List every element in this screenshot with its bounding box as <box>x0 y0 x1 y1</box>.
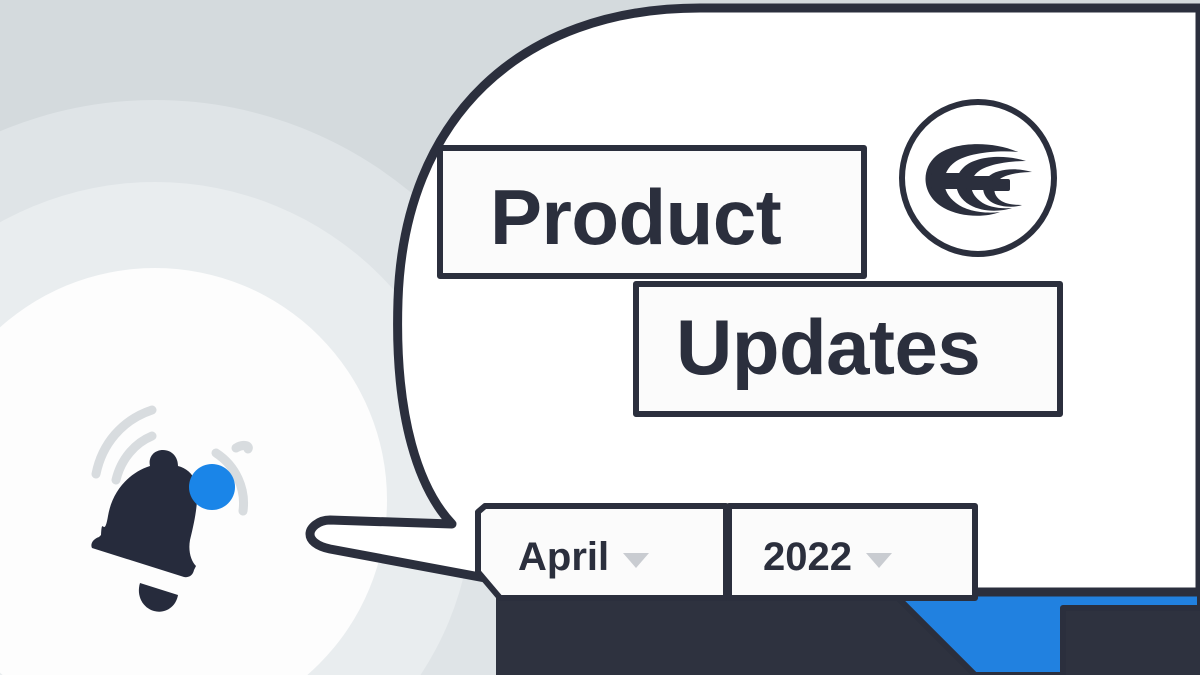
bell-icon-layer <box>0 0 1200 675</box>
notification-dot-icon <box>189 464 235 510</box>
notification-bell-icon <box>91 450 197 612</box>
banner-canvas: Product Updates April 2022 <box>0 0 1200 675</box>
